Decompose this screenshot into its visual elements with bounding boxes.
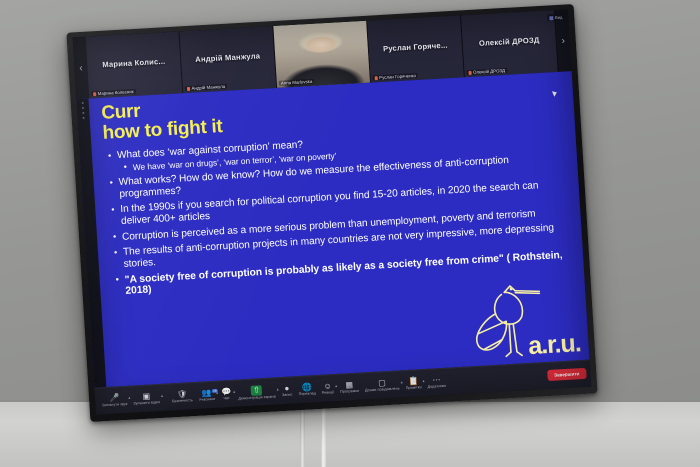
microphone-muted-icon xyxy=(93,92,96,96)
chat-button[interactable]: 💬 Чат ▲ xyxy=(218,387,236,401)
participant-tile[interactable]: Марина Колис... Марина Колесник xyxy=(86,31,184,98)
participant-corner-name: Олексій ДРОЗД xyxy=(473,68,505,75)
microphone-icon: 🎤 xyxy=(109,393,120,403)
video-button-label: Зупинити відео xyxy=(133,400,160,406)
whiteboard-icon: ▢ xyxy=(378,378,386,387)
video-button[interactable]: ▣ Зупинити відео ▲ xyxy=(130,391,164,406)
chat-button-label: Чат xyxy=(223,396,230,400)
record-button[interactable]: ● Запис xyxy=(278,383,296,397)
wall-mounted-television: Вид ‹ Марина Колис... Марина Колесник Ан… xyxy=(66,4,597,422)
whiteboard-button[interactable]: ▢ Дошки повідомлень ▲ xyxy=(361,377,403,393)
participant-name: Руслан Горяче... xyxy=(369,39,462,53)
more-button[interactable]: ⋯ Додатково xyxy=(424,374,449,389)
chevron-up-icon[interactable]: ▲ xyxy=(160,394,164,398)
ellipsis-icon: ⋯ xyxy=(432,375,441,384)
tv-screen: Вид ‹ Марина Колис... Марина Колесник Ан… xyxy=(73,9,592,414)
participant-name: Марина Колис... xyxy=(87,55,180,69)
hanging-cable xyxy=(321,400,326,467)
apps-grid-icon: ▦ xyxy=(345,380,353,389)
notes-button[interactable]: 📋 Примітки ▲ xyxy=(402,376,425,391)
sidebar-dot xyxy=(82,107,84,109)
reactions-button[interactable]: ☺ Реакції ▲ xyxy=(318,381,337,396)
zoom-meeting-window: Вид ‹ Марина Колис... Марина Колесник Ан… xyxy=(73,9,592,414)
participant-corner-label: Андрій Манжула xyxy=(185,84,227,91)
wall-corner-edge xyxy=(300,405,305,467)
slide-bullet-list: What does ‘war against corruption’ mean?… xyxy=(108,125,569,303)
participant-name: Андрій Манжула xyxy=(181,50,274,64)
participant-corner-name: Марина Колесник xyxy=(98,89,134,96)
interpretation-button-label: Переклад xyxy=(299,391,316,396)
audio-button[interactable]: 🎤 Вимкнути звук ▲ xyxy=(99,393,131,408)
sidebar-dot xyxy=(82,102,84,104)
toolbar-spacer xyxy=(449,376,547,382)
view-label: Вид xyxy=(555,15,563,20)
notes-button-label: Примітки xyxy=(406,385,422,390)
participant-corner-name: Руслан Горяченко xyxy=(379,73,416,80)
globe-icon: 🌐 xyxy=(302,382,313,392)
participant-tile[interactable]: Андрій Манжула Андрій Манжула xyxy=(179,26,277,93)
record-circle-icon: ● xyxy=(284,383,289,392)
participant-tile[interactable]: Руслан Горяче... Руслан Горяченко xyxy=(367,15,465,82)
presentation-slide: Curr how to fight it What does ‘war agai… xyxy=(76,71,589,388)
record-button-label: Запис xyxy=(282,393,293,398)
interpretation-button[interactable]: 🌐 Переклад xyxy=(295,382,319,397)
microphone-muted-icon xyxy=(375,76,378,80)
participant-corner-name: Андрій Манжула xyxy=(191,84,225,91)
chat-bubble-icon: 💬 xyxy=(221,387,232,397)
reactions-button-label: Реакції xyxy=(322,390,335,395)
participant-webcam-video xyxy=(273,21,370,88)
participant-tile[interactable]: Олексій ДРОЗД Олексій ДРОЗД xyxy=(461,10,559,77)
security-button-label: Безпечність xyxy=(172,398,193,403)
view-grid-icon xyxy=(549,16,553,20)
share-screen-button-label: Демонстрація екрана xyxy=(238,394,276,400)
camera-icon: ▣ xyxy=(142,391,150,400)
share-screen-button[interactable]: ⇧ Демонстрація екрана ▲ xyxy=(235,384,279,400)
view-indicator[interactable]: Вид xyxy=(547,14,564,22)
participant-tile-active-speaker[interactable]: Anna Marlovska xyxy=(273,21,371,88)
whiteboard-button-label: Дошки повідомлень xyxy=(365,387,400,393)
security-button[interactable]: 🛡 Безпечність xyxy=(168,389,196,404)
participant-name: Олексій ДРОЗД xyxy=(462,34,555,48)
share-screen-icon: ⇧ xyxy=(251,385,262,396)
apps-button-label: Програмки xyxy=(340,389,359,394)
people-icon: 👥 xyxy=(201,388,212,398)
end-meeting-button[interactable]: Завершити xyxy=(547,368,587,381)
participant-corner-label: Олексій ДРОЗД xyxy=(466,68,507,75)
participants-button[interactable]: 👥 Учасники 28 ▲ xyxy=(195,388,218,403)
more-button-label: Додатково xyxy=(428,384,447,389)
shared-screen-area: Curr how to fight it What does ‘war agai… xyxy=(76,71,589,388)
sidebar-dot xyxy=(82,112,84,114)
aru-wordmark: a.r.u. xyxy=(527,331,581,359)
smiley-icon: ☺ xyxy=(323,381,332,390)
audio-button-label: Вимкнути звук xyxy=(102,402,127,407)
microphone-muted-icon xyxy=(468,70,471,74)
microphone-muted-icon xyxy=(187,86,190,90)
participants-button-label: Учасники xyxy=(199,397,216,402)
apps-button[interactable]: ▦ Програмки xyxy=(337,379,363,394)
sidebar-dot xyxy=(83,117,85,119)
shield-icon: 🛡 xyxy=(177,389,188,399)
notes-icon: 📋 xyxy=(408,376,419,386)
